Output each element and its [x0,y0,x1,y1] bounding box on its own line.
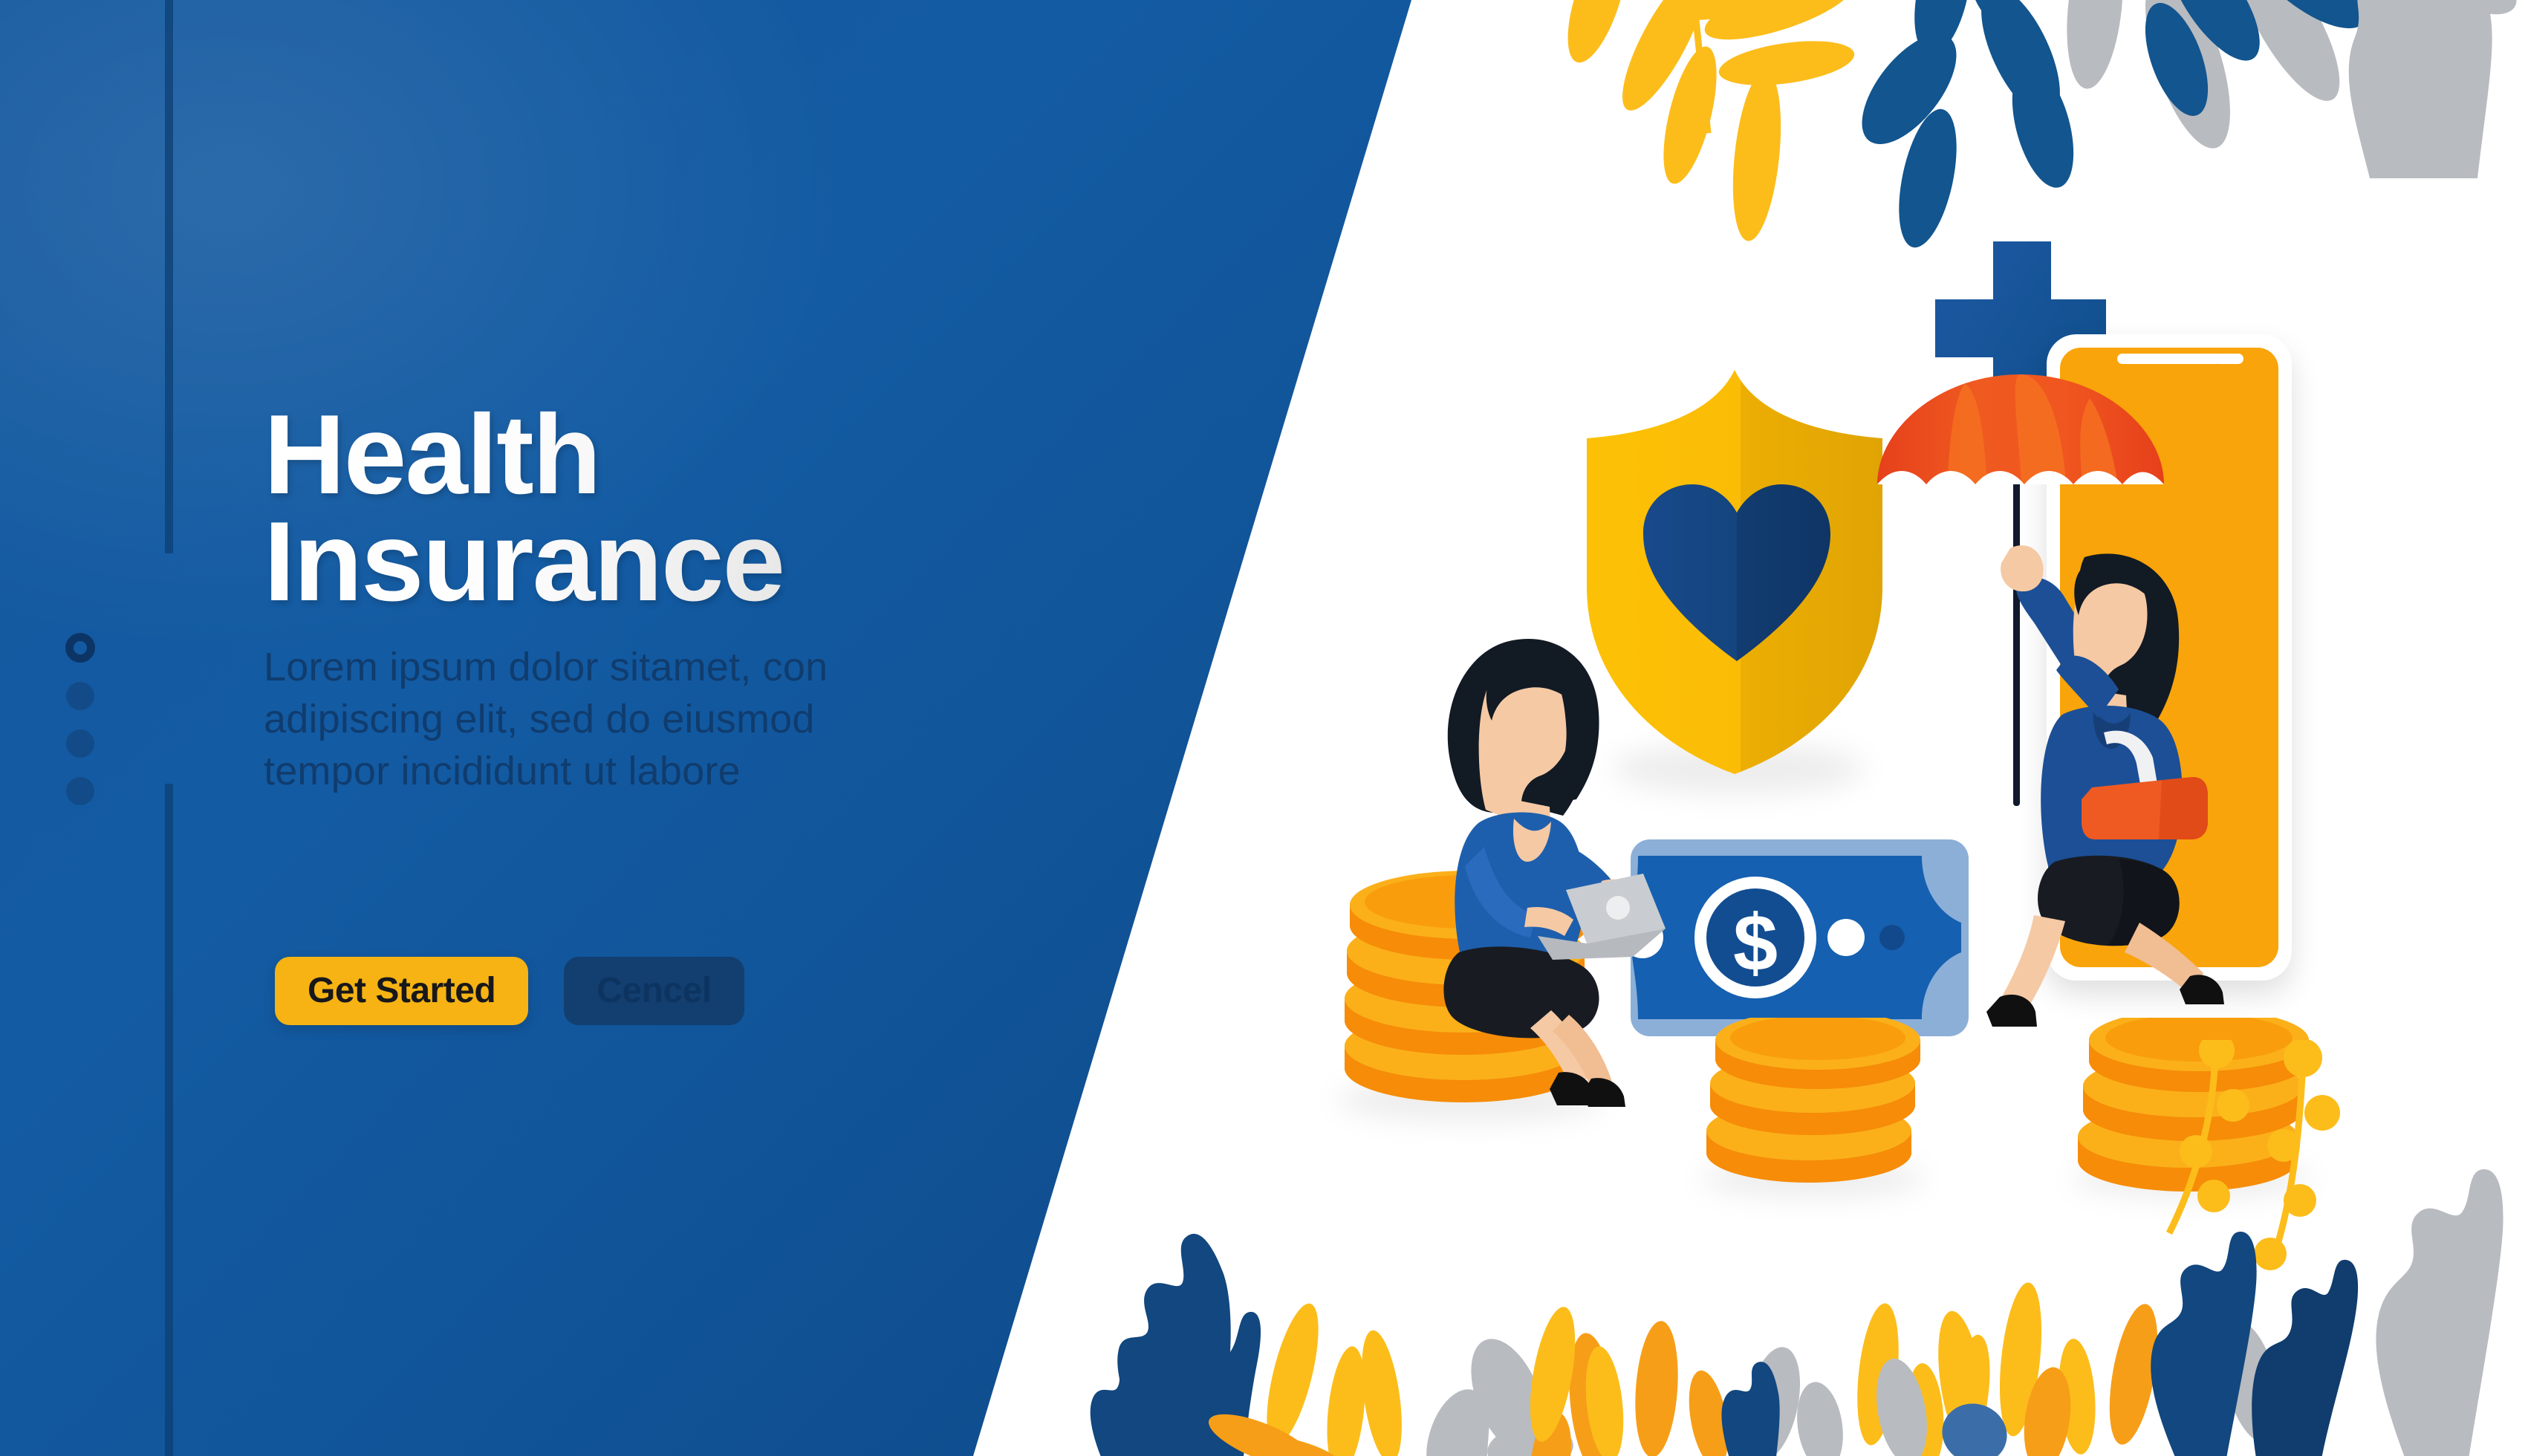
woman-with-umbrella-illustration[interactable] [1946,513,2258,1062]
foliage-bottom-center-icon [1486,1263,2006,1456]
foliage-bottom-left-navy-oak-icon [1070,1218,1634,1456]
foliage-bottom-navy-oak-icon [2035,1159,2422,1456]
foliage-top-right-blue-icon [2132,0,2528,201]
hero-description: Lorem ipsum dolor sitamet, con adipiscin… [264,641,917,798]
foliage-top-right-gray-oak-icon [2325,0,2528,178]
woman-with-laptop-illustration[interactable] [1382,624,1731,1107]
coin-stack-center-icon[interactable] [1697,1018,1935,1189]
foliage-bottom-right-yellow-icon [1902,1233,2318,1456]
foliage-top-yellow-frond-icon [1501,0,2065,267]
landing-page-canvas: Health Insurance Lorem ipsum dolor sitam… [0,0,2528,1456]
headline-line-2: Insurance [264,508,932,615]
phone-camera-icon [2214,354,2243,364]
hero-button-row: Get Started Cencel [275,957,744,1025]
get-started-button[interactable]: Get Started [275,957,528,1025]
pagination-dot-1[interactable] [65,633,95,663]
hero-copy: Health Insurance Lorem ipsum dolor sitam… [264,401,932,797]
pagination-dots[interactable] [65,633,95,805]
pagination-dot-4[interactable] [66,777,94,805]
vertical-rule-top [165,0,173,553]
pagination-dot-2[interactable] [66,682,94,710]
phone-notch-icon [2117,354,2221,364]
umbrella-icon[interactable] [1876,371,2165,505]
cancel-button[interactable]: Cencel [564,957,744,1025]
foliage-bottom-gray-blue-accent-icon [1850,1307,2102,1456]
headline-line-1: Health [264,401,932,508]
foliage-top-gray-frond-icon [1991,0,2528,245]
foliage-top-blue-frond-icon [1805,0,2340,253]
dollar-symbol: $ [1733,897,1778,987]
foliage-bottom-far-left-icon [1018,1307,1241,1456]
pagination-dot-3[interactable] [66,729,94,758]
page-title: Health Insurance [264,401,932,616]
vertical-rule-bottom [165,784,173,1456]
